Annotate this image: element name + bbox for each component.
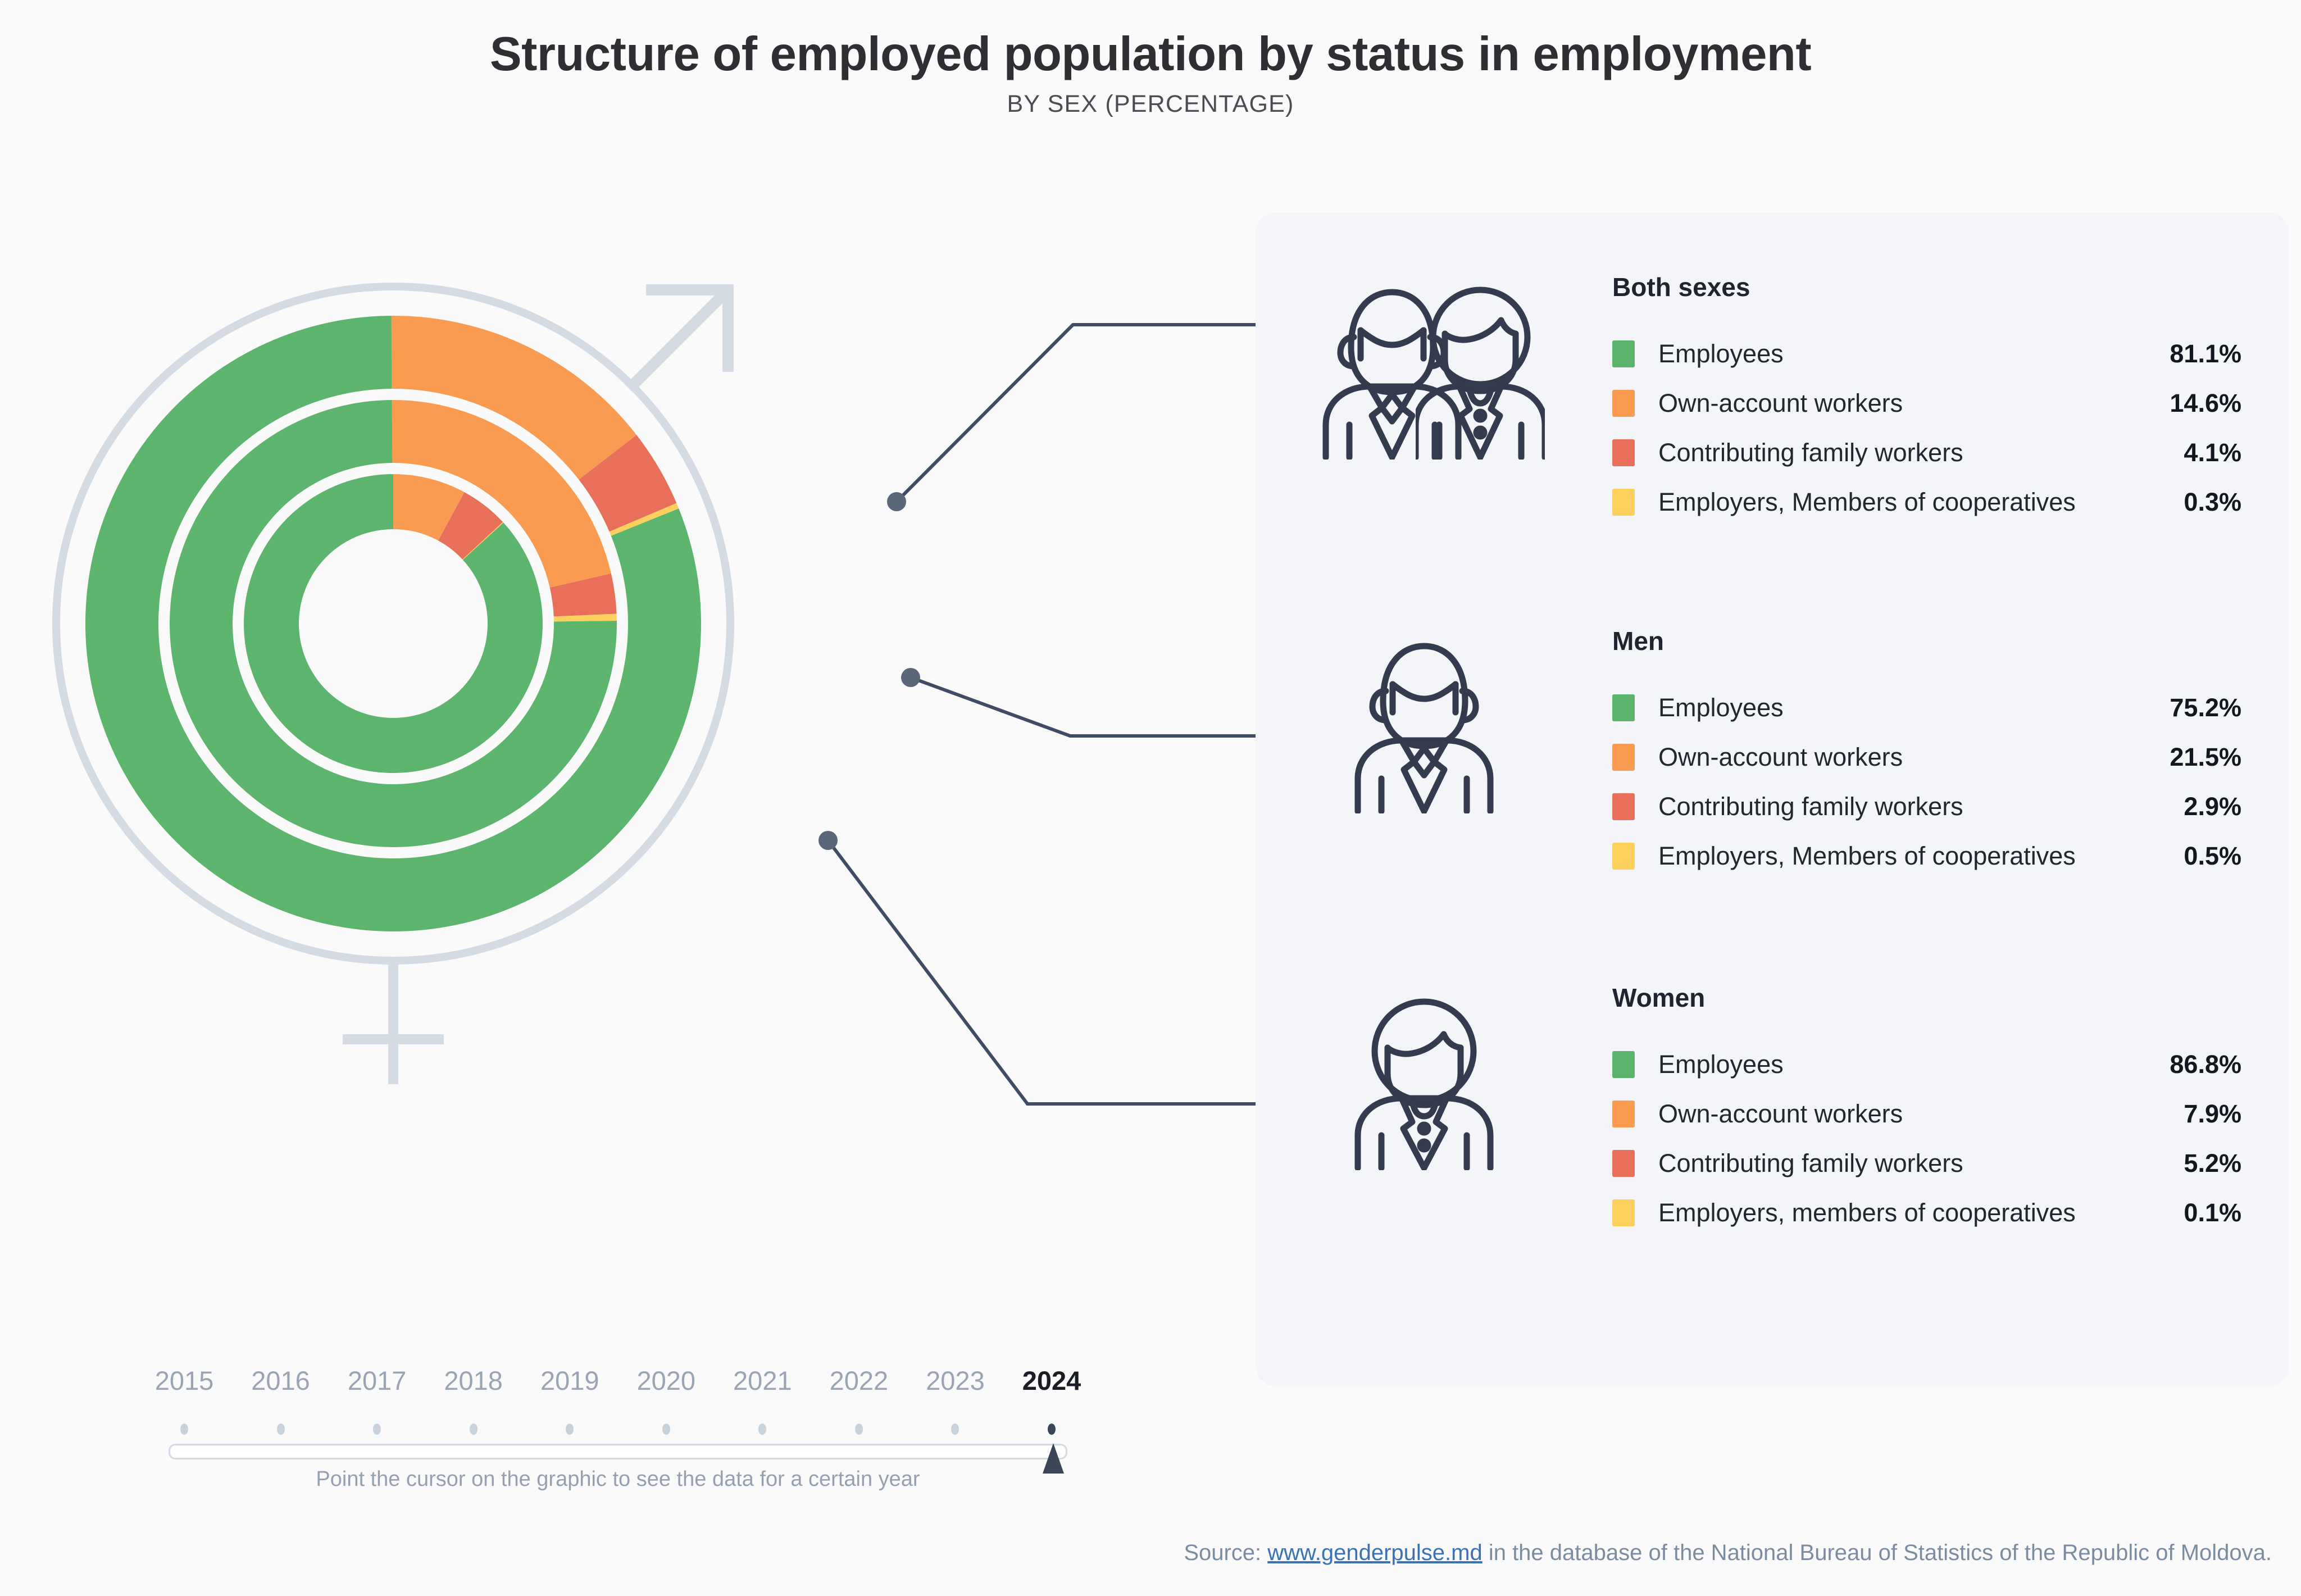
year-label-2020[interactable]: 2020 — [636, 1365, 695, 1396]
legend-label: Employees — [1658, 1050, 1784, 1079]
man-icon — [1354, 628, 1494, 816]
rings-group — [85, 316, 701, 931]
source-note: Source: www.genderpulse.md in the databa… — [1184, 1540, 2272, 1566]
legend-label: Employees — [1658, 693, 1784, 722]
legend-group-body: Both sexes Employees 81.1% Own-account w… — [1612, 274, 2241, 527]
page-title: Structure of employed population by stat… — [0, 0, 2301, 79]
timeline-hint: Point the cursor on the graphic to see t… — [169, 1467, 1067, 1492]
legend-label: Employees — [1658, 339, 1784, 369]
woman-icon — [1354, 985, 1494, 1173]
legend-value: 5.2% — [2170, 1149, 2241, 1178]
year-label-2019[interactable]: 2019 — [540, 1365, 599, 1396]
legend-row[interactable]: Contributing family workers 2.9% — [1612, 782, 2241, 831]
year-label-2021[interactable]: 2021 — [733, 1365, 792, 1396]
legend-label: Own-account workers — [1658, 1099, 1903, 1129]
legend-swatch-employers — [1612, 489, 1635, 516]
legend-row[interactable]: Employers, members of cooperatives 0.1% — [1612, 1188, 2241, 1238]
page-subtitle: BY SEX (PERCENTAGE) — [0, 79, 2301, 118]
legend-row[interactable]: Contributing family workers 5.2% — [1612, 1139, 2241, 1188]
legend-label: Contributing family workers — [1658, 438, 1963, 467]
year-dot-2016[interactable] — [277, 1424, 285, 1435]
year-dot-2015[interactable] — [180, 1424, 188, 1435]
year-dots — [169, 1417, 1067, 1442]
legend-swatch-employers — [1612, 1199, 1635, 1226]
year-label-2024[interactable]: 2024 — [1022, 1365, 1081, 1396]
legend-value: 4.1% — [2170, 438, 2241, 467]
year-label-2022[interactable]: 2022 — [830, 1365, 889, 1396]
header: Structure of employed population by stat… — [0, 0, 2301, 118]
legend-row[interactable]: Employees 86.8% — [1612, 1040, 2241, 1089]
legend-value: 86.8% — [2156, 1050, 2241, 1079]
year-dot-2021[interactable] — [758, 1424, 766, 1435]
legend-group-title: Women — [1612, 985, 2241, 1011]
legend-swatch-employers — [1612, 843, 1635, 870]
legend-swatch-own-account — [1612, 744, 1635, 771]
source-prefix: Source: — [1184, 1540, 1267, 1565]
legend-label: Contributing family workers — [1658, 1149, 1963, 1178]
legend-swatch-employees — [1612, 340, 1635, 367]
year-dot-2019[interactable] — [566, 1424, 574, 1435]
year-dot-2023[interactable] — [951, 1424, 959, 1435]
legend-row[interactable]: Employers, Members of cooperatives 0.3% — [1612, 478, 2241, 527]
legend-group-body: Men Employees 75.2% Own-account workers … — [1612, 628, 2241, 881]
legend-value: 21.5% — [2156, 743, 2241, 772]
legend-value: 2.9% — [2170, 792, 2241, 821]
year-dot-2024[interactable] — [1048, 1424, 1056, 1435]
mars-symbol-icon — [629, 290, 728, 389]
source-suffix: in the database of the National Bureau o… — [1483, 1540, 2272, 1565]
legend-value: 0.5% — [2170, 842, 2241, 871]
year-timeline[interactable]: 2015201620172018201920202021202220232024… — [169, 1365, 1067, 1459]
legend-label: Contributing family workers — [1658, 792, 1963, 821]
legend-label: Employers, members of cooperatives — [1658, 1198, 2076, 1227]
legend-group-body: Women Employees 86.8% Own-account worker… — [1612, 985, 2241, 1238]
legend-value: 81.1% — [2156, 339, 2241, 369]
legend-label: Employers, Members of cooperatives — [1658, 488, 2076, 517]
legend-row[interactable]: Contributing family workers 4.1% — [1612, 428, 2241, 478]
donut-chart[interactable] — [0, 242, 1011, 1337]
legend-row[interactable]: Employees 75.2% — [1612, 683, 2241, 733]
legend-swatch-own-account — [1612, 390, 1635, 417]
legend-swatch-contributing-family — [1612, 1150, 1635, 1177]
year-label-2015[interactable]: 2015 — [155, 1365, 214, 1396]
year-label-2023[interactable]: 2023 — [926, 1365, 985, 1396]
legend-label: Employers, Members of cooperatives — [1658, 842, 2076, 871]
year-label-2017[interactable]: 2017 — [348, 1365, 407, 1396]
legend-row[interactable]: Employees 81.1% — [1612, 329, 2241, 379]
year-dot-2018[interactable] — [470, 1424, 478, 1435]
year-dot-2017[interactable] — [373, 1424, 381, 1435]
legend-row[interactable]: Own-account workers 14.6% — [1612, 379, 2241, 428]
legend-value: 14.6% — [2156, 389, 2241, 418]
donut-svg — [0, 242, 1011, 1337]
legend-group-title: Men — [1612, 628, 2241, 654]
year-labels: 2015201620172018201920202021202220232024 — [169, 1365, 1067, 1404]
legend-value: 7.9% — [2170, 1099, 2241, 1129]
legend-group-title: Both sexes — [1612, 274, 2241, 300]
legend-label: Own-account workers — [1658, 743, 1903, 772]
year-label-2016[interactable]: 2016 — [251, 1365, 310, 1396]
legend-swatch-employees — [1612, 694, 1635, 721]
year-dot-2022[interactable] — [855, 1424, 863, 1435]
year-label-2018[interactable]: 2018 — [444, 1365, 503, 1396]
legend-row[interactable]: Own-account workers 21.5% — [1612, 733, 2241, 782]
source-link[interactable]: www.genderpulse.md — [1267, 1540, 1482, 1565]
legend-swatch-own-account — [1612, 1101, 1635, 1127]
legend-panel: Both sexes Employees 81.1% Own-account w… — [1256, 212, 2289, 1386]
legend-swatch-contributing-family — [1612, 793, 1635, 820]
legend-value: 75.2% — [2156, 693, 2241, 722]
infographic-page: Structure of employed population by stat… — [0, 0, 2301, 1596]
year-dot-2020[interactable] — [662, 1424, 670, 1435]
timeline-track[interactable] — [169, 1444, 1067, 1459]
legend-row[interactable]: Employers, Members of cooperatives 0.5% — [1612, 831, 2241, 881]
legend-value: 0.3% — [2170, 488, 2241, 517]
legend-swatch-contributing-family — [1612, 439, 1635, 466]
venus-symbol-icon — [343, 961, 444, 1084]
legend-label: Own-account workers — [1658, 389, 1903, 418]
legend-row[interactable]: Own-account workers 7.9% — [1612, 1089, 2241, 1139]
woman-companion-icon — [1416, 274, 1545, 462]
legend-value: 0.1% — [2170, 1198, 2241, 1227]
legend-swatch-employees — [1612, 1051, 1635, 1078]
